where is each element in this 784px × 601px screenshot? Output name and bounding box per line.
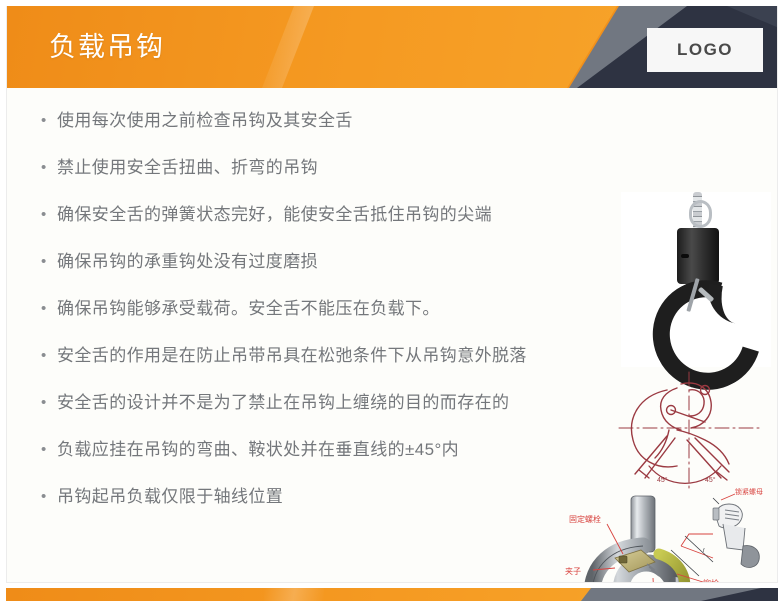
radius-label: r: [703, 548, 705, 554]
bullet-marker-icon: •: [37, 202, 57, 228]
bullet-marker-icon: •: [37, 155, 57, 181]
list-item: • 安全舌的作用是在防止吊带吊具在松弛条件下从吊钩意外脱落: [37, 343, 637, 390]
hook-parts-svg: r 固定螺栓 夹子 不锈钢弹簧 铆栓 突缘: [563, 486, 778, 583]
list-item: • 确保吊钩的承重钩处没有过度磨损: [37, 249, 637, 296]
bullet-text: 安全舌的设计并不是为了禁止在吊钩上缠绕的目的而存在的: [57, 390, 509, 416]
list-item: • 负载应挂在吊钩的弯曲、鞍状处并在垂直线的±45°内: [37, 437, 637, 484]
bullet-text: 吊钩起吊负载仅限于轴线位置: [57, 484, 283, 510]
angle-label-right: 45°: [705, 476, 716, 484]
list-item: • 吊钩起吊负载仅限于轴线位置: [37, 484, 637, 531]
chain-link-icon: [689, 200, 712, 228]
label-lock-nut: 锁紧螺母: [735, 487, 763, 496]
bullet-marker-icon: •: [37, 437, 57, 463]
hook-photo-image: [621, 192, 771, 367]
logo-placeholder: LOGO: [647, 28, 763, 72]
list-item: • 安全舌的设计并不是为了禁止在吊钩上缠绕的目的而存在的: [37, 390, 637, 437]
list-item: • 禁止使用安全舌扭曲、折弯的吊钩: [37, 155, 637, 202]
bullet-list: • 使用每次使用之前检查吊钩及其安全舌 • 禁止使用安全舌扭曲、折弯的吊钩 • …: [37, 108, 637, 531]
angle-diagram-image: 45° 45°: [605, 366, 775, 494]
bullet-marker-icon: •: [37, 108, 57, 134]
bullet-text: 安全舌的作用是在防止吊带吊具在松弛条件下从吊钩意外脱落: [57, 343, 527, 369]
list-item: • 使用每次使用之前检查吊钩及其安全舌: [37, 108, 637, 155]
bullet-marker-icon: •: [37, 390, 57, 416]
bullet-marker-icon: •: [37, 296, 57, 322]
next-slide-preview[interactable]: [6, 588, 778, 601]
next-slide-orange-shape: [6, 588, 646, 601]
bullet-text: 确保吊钩能够承受载荷。安全舌不能压在负载下。: [57, 296, 440, 322]
page-title: 负载吊钩: [49, 30, 165, 64]
label-fixing-bolt: 固定螺栓: [569, 514, 601, 524]
angle-diagram-svg: 45° 45°: [605, 366, 775, 494]
list-item: • 确保安全舌的弹簧状态完好，能使安全舌抵住吊钩的尖端: [37, 202, 637, 249]
bullet-text: 禁止使用安全舌扭曲、折弯的吊钩: [57, 155, 318, 181]
presentation-slide: 负载吊钩 LOGO • 使用每次使用之前检查吊钩及其安全舌 • 禁止使用安全舌扭…: [6, 6, 778, 583]
bullet-text: 使用每次使用之前检查吊钩及其安全舌: [57, 108, 353, 134]
bullet-text: 确保安全舌的弹簧状态完好，能使安全舌抵住吊钩的尖端: [57, 202, 492, 228]
bullet-marker-icon: •: [37, 249, 57, 275]
slide-body: • 使用每次使用之前检查吊钩及其安全舌 • 禁止使用安全舌扭曲、折弯的吊钩 • …: [7, 88, 778, 583]
slide-header: 负载吊钩 LOGO: [7, 6, 778, 88]
next-slide-light-stripe: [264, 588, 324, 601]
label-rivet-bolt: 铆栓: [703, 578, 719, 583]
hook-shape: [647, 274, 743, 366]
hook-detail-inset: 锁紧螺母: [713, 487, 763, 567]
hook-parts-diagram-image: r 固定螺栓 夹子 不锈钢弹簧 铆栓 突缘: [563, 486, 778, 583]
bullet-marker-icon: •: [37, 343, 57, 369]
angle-label-left: 45°: [657, 476, 668, 484]
slide-page: 负载吊钩 LOGO • 使用每次使用之前检查吊钩及其安全舌 • 禁止使用安全舌扭…: [0, 0, 784, 601]
bullet-text: 负载应挂在吊钩的弯曲、鞍状处并在垂直线的±45°内: [57, 437, 459, 463]
bullet-marker-icon: •: [37, 484, 57, 510]
bullet-text: 确保吊钩的承重钩处没有过度磨损: [57, 249, 318, 275]
list-item: • 确保吊钩能够承受载荷。安全舌不能压在负载下。: [37, 296, 637, 343]
logo-label: LOGO: [677, 40, 733, 60]
label-clamp: 夹子: [565, 566, 581, 576]
